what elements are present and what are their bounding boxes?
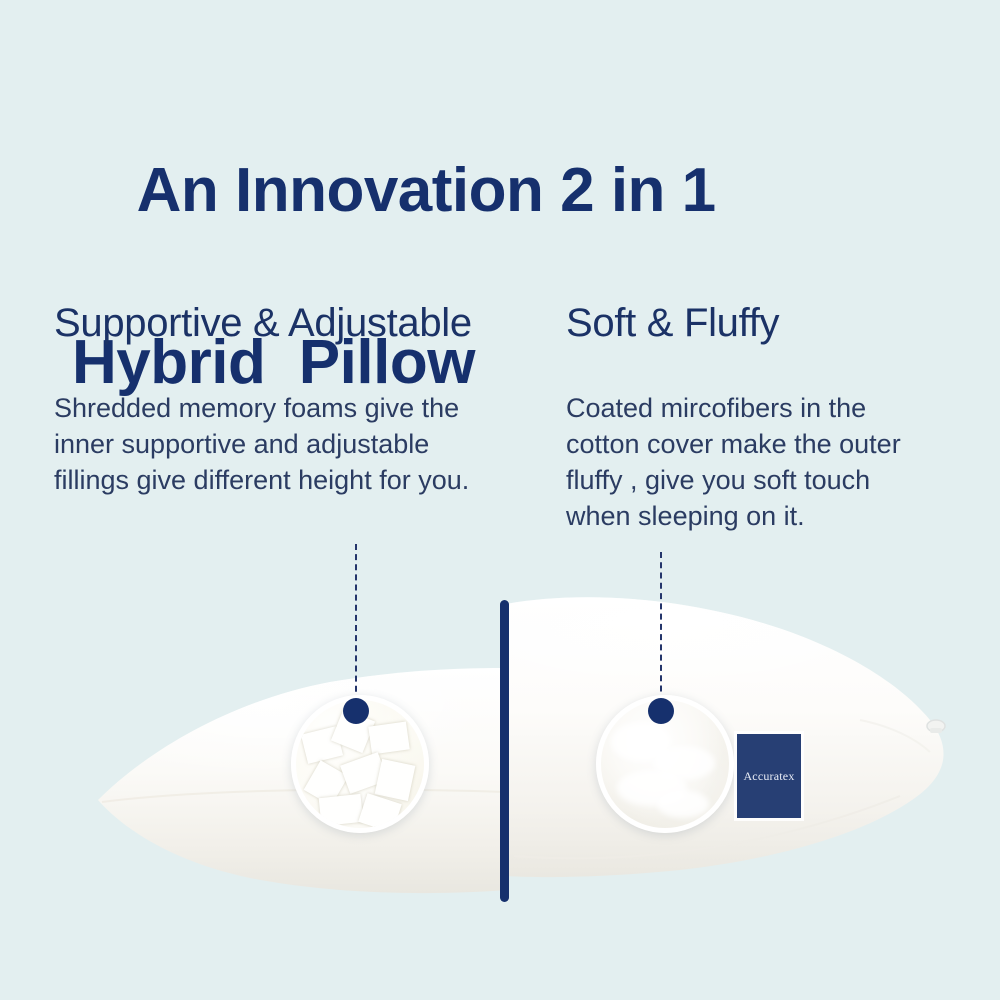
feature-body-soft: Coated mircofibers in the cotton cover m… <box>566 390 966 534</box>
feature-heading-supportive: Supportive & Adjustable <box>54 300 472 346</box>
leader-dot-right <box>648 698 674 724</box>
infographic-canvas: An Innovation 2 in 1 Hybrid Pillow Suppo… <box>0 0 1000 1000</box>
brand-label: Accuratex <box>737 734 801 818</box>
leader-dot-left <box>343 698 369 724</box>
zipper-pull-icon <box>927 720 945 733</box>
feature-heading-soft: Soft & Fluffy <box>566 300 779 346</box>
leader-line-left <box>355 544 357 712</box>
headline-line-1: An Innovation 2 in 1 <box>137 156 716 225</box>
brand-label-text: Accuratex <box>743 769 794 784</box>
leader-line-right <box>660 552 662 712</box>
feature-body-supportive: Shredded memory foams give the inner sup… <box>54 390 524 498</box>
section-divider <box>500 600 509 902</box>
